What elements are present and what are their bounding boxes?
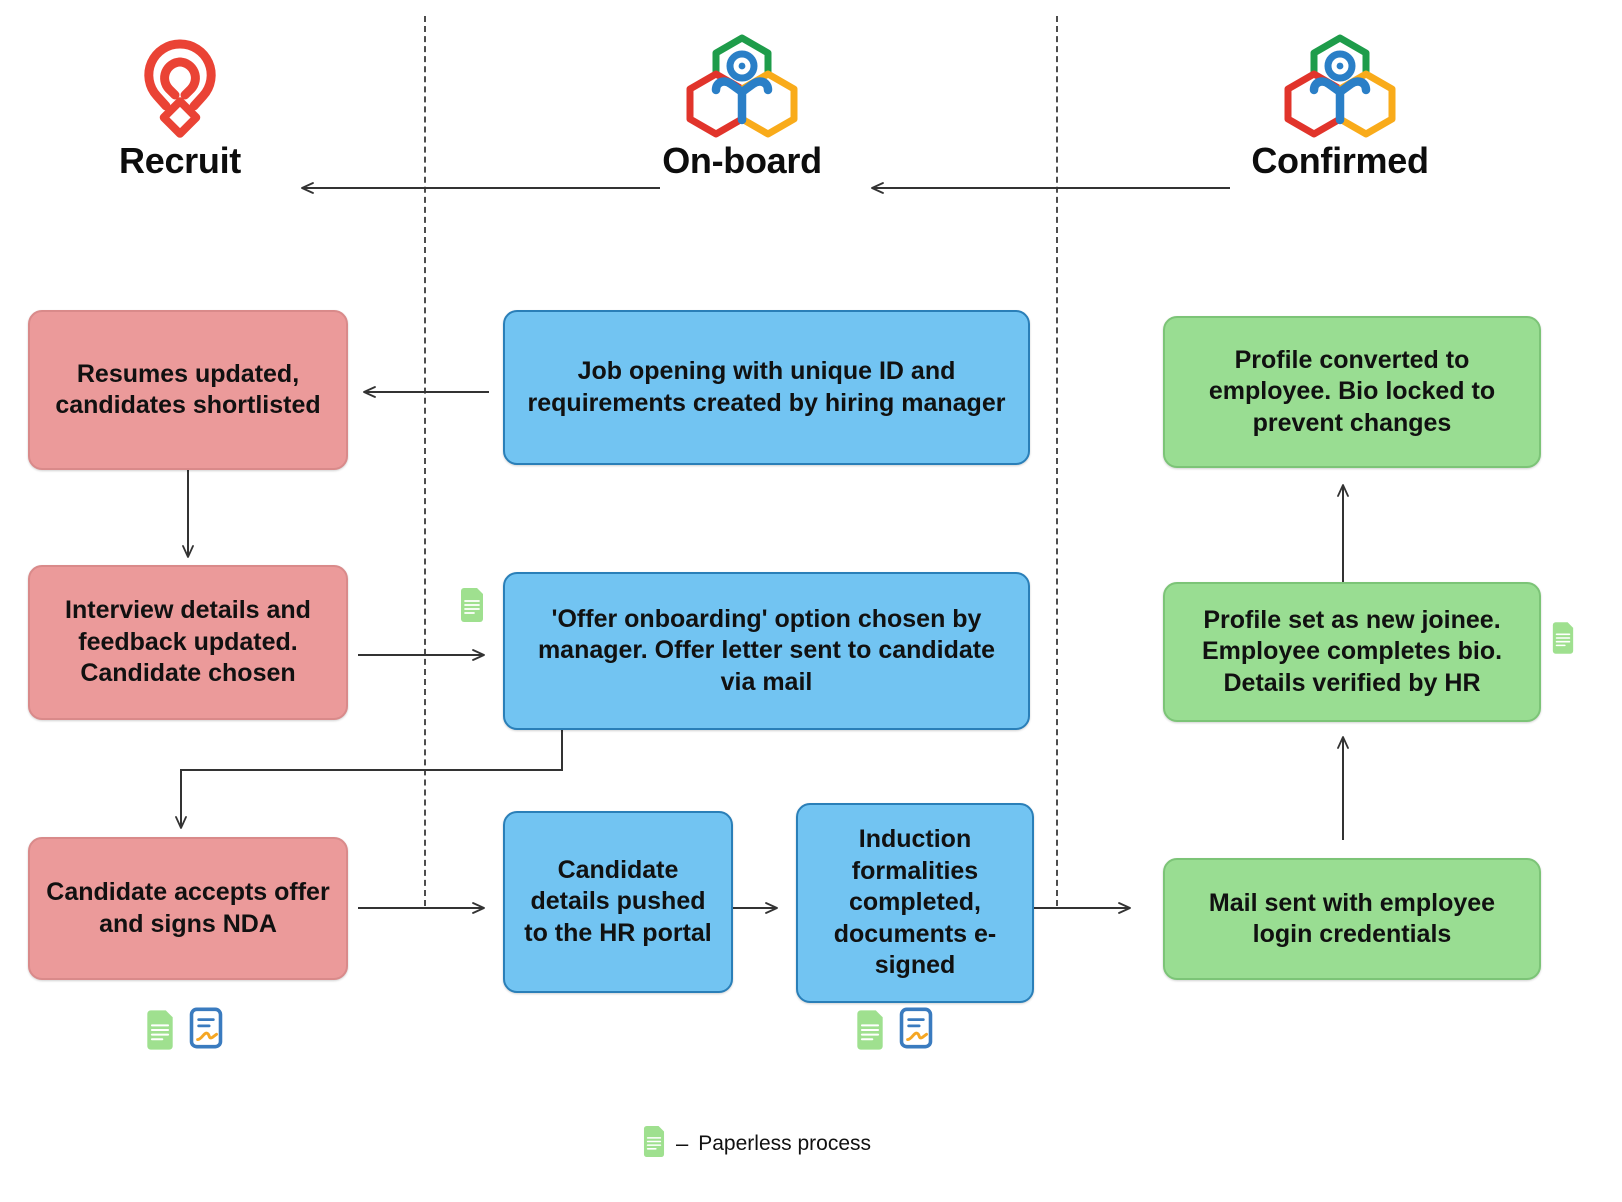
node-profile-converted[interactable]: Profile converted to employee. Bio locke… — [1163, 316, 1541, 468]
stage-label-onboard: On-board — [592, 140, 892, 182]
flowchart-canvas: Recruit On-board — [0, 0, 1622, 1202]
node-candidate-accepts-offer[interactable]: Candidate accepts offer and signs NDA — [28, 837, 348, 980]
node-profile-new-joinee[interactable]: Profile set as new joinee. Employee comp… — [1163, 582, 1541, 722]
node-label: Job opening with unique ID and requireme… — [519, 356, 1014, 419]
stage-label-confirmed: Confirmed — [1190, 140, 1490, 182]
node-mail-login-credentials[interactable]: Mail sent with employee login credential… — [1163, 858, 1541, 980]
paperless-document-icon — [459, 588, 485, 627]
paperless-document-icon — [855, 1010, 885, 1055]
node-job-opening-created[interactable]: Job opening with unique ID and requireme… — [503, 310, 1030, 465]
node-label: Profile set as new joinee. Employee comp… — [1179, 605, 1525, 700]
node-interview-details[interactable]: Interview details and feedback updated. … — [28, 565, 348, 720]
node-label: Mail sent with employee login credential… — [1179, 888, 1525, 951]
paperless-document-icon — [1551, 622, 1575, 659]
arrow-offer-onboarding-to-candidate-accepts — [181, 716, 562, 828]
node-label: 'Offer onboarding' option chosen by mana… — [519, 604, 1014, 699]
stage-header-onboard: On-board — [592, 30, 892, 182]
signed-document-icon — [899, 1007, 933, 1054]
lane-divider-recruit-onboard — [424, 16, 426, 906]
node-candidate-details-pushed[interactable]: Candidate details pushed to the HR porta… — [503, 811, 733, 993]
stage-header-recruit: Recruit — [30, 30, 330, 182]
onboard-hexagons-person-icon — [592, 30, 892, 140]
node-label: Induction formalities completed, documen… — [812, 824, 1018, 982]
legend-dash: – — [676, 1133, 688, 1155]
confirmed-hexagons-person-icon — [1190, 30, 1490, 140]
node-label: Candidate accepts offer and signs NDA — [44, 877, 332, 940]
node-offer-onboarding-chosen[interactable]: 'Offer onboarding' option chosen by mana… — [503, 572, 1030, 730]
signed-document-icon — [189, 1007, 223, 1054]
node-induction-formalities[interactable]: Induction formalities completed, documen… — [796, 803, 1034, 1003]
legend-label: Paperless process — [698, 1132, 871, 1156]
node-label: Interview details and feedback updated. … — [44, 595, 332, 690]
legend: – Paperless process — [642, 1126, 871, 1162]
legend-paperless-swatch-icon — [642, 1126, 666, 1162]
node-label: Resumes updated, candidates shortlisted — [44, 359, 332, 422]
node-label: Profile converted to employee. Bio locke… — [1179, 345, 1525, 440]
node-resumes-updated[interactable]: Resumes updated, candidates shortlisted — [28, 310, 348, 470]
paperless-document-icon — [145, 1010, 175, 1055]
node-label: Candidate details pushed to the HR porta… — [519, 855, 717, 950]
recruit-magnet-icon — [30, 30, 330, 140]
stage-label-recruit: Recruit — [30, 140, 330, 182]
stage-header-confirmed: Confirmed — [1190, 30, 1490, 182]
lane-divider-onboard-confirmed — [1056, 16, 1058, 906]
